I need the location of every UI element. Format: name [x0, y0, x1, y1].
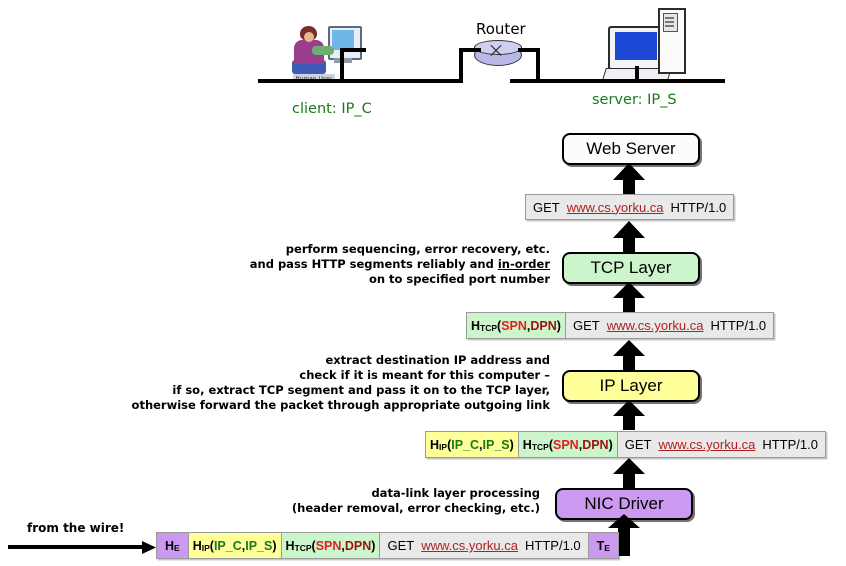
network-topology: Human User ⨉ Router client: IP_C server:… [0, 0, 846, 125]
router-label: Router [476, 20, 526, 38]
tcp-header-sub: TCP [532, 442, 549, 452]
packet-ethernet-frame[interactable]: HE HIP(IP_C, IP_S) HTCP(SPN, DPN) GET ww… [156, 532, 619, 559]
tcp-layer-label: TCP Layer [564, 254, 698, 282]
tcp-note-line-3: on to specified port number [180, 272, 550, 287]
router-icon: ⨉ [474, 40, 524, 66]
server-bay-slit-3 [665, 25, 674, 27]
client-person-face [304, 32, 314, 42]
tcp-layer-box[interactable]: TCP Layer [562, 252, 700, 284]
packet-ip[interactable]: HIP(IP_C, IP_S) HTCP(SPN, DPN) GET www.c… [425, 431, 826, 458]
tcp-spn: SPN [501, 319, 527, 333]
ip-layer-label: IP Layer [564, 372, 698, 400]
nic-note-line-1: data-link layer processing [250, 486, 540, 501]
wire-right-segment [510, 79, 725, 83]
from-the-wire-label: from the wire! [27, 521, 124, 535]
eth-trailer-t: T [597, 539, 605, 553]
arrow-up-to-ip-packet [612, 458, 646, 488]
tcp-dpn: DPN [530, 319, 556, 333]
client-screen [332, 30, 354, 50]
ip-header-h: H [193, 539, 202, 553]
ip-layer-annotation: extract destination IP address and check… [120, 353, 550, 413]
wire-router-left-drop [459, 48, 463, 82]
ip-note-line-3: if so, extract TCP segment and pass it o… [120, 383, 550, 398]
arrow-up-to-ip-layer [612, 400, 646, 430]
http-method: GET [573, 318, 600, 333]
ip-paren-close: ) [272, 539, 276, 553]
http-version: HTTP/1.0 [711, 318, 767, 333]
server-computer-icon [600, 8, 690, 78]
ip-header-sub: IP [202, 543, 210, 553]
wire-router-right-drop [536, 48, 540, 82]
client-computer-icon: Human User [288, 18, 348, 88]
client-person-arm [312, 46, 334, 55]
router-cross-glyph: ⨉ [490, 42, 502, 60]
wire-left-segment [258, 79, 463, 83]
http-version: HTTP/1.0 [762, 437, 818, 452]
arrow-from-the-wire [8, 539, 158, 557]
server-address-label: server: IP_S [592, 92, 677, 108]
web-server-label: Web Server [564, 135, 698, 163]
server-bay-slit-2 [665, 21, 674, 23]
http-method: GET [533, 200, 560, 215]
ip-header-segment: HIP(IP_C, IP_S) [189, 533, 282, 558]
tcp-note-line-2: and pass HTTP segments reliably and in-o… [180, 257, 550, 272]
ethernet-header-segment: HE [157, 533, 189, 558]
http-url: www.cs.yorku.ca [421, 538, 518, 553]
nic-note-line-2: (header removal, error checking, etc.) [250, 501, 540, 516]
http-url: www.cs.yorku.ca [607, 318, 704, 333]
nic-driver-annotation: data-link layer processing (header remov… [250, 486, 540, 516]
http-method: GET [387, 538, 414, 553]
tcp-spn: SPN [553, 438, 579, 452]
packet-tcp[interactable]: HTCP(SPN, DPN) GET www.cs.yorku.ca HTTP/… [466, 312, 774, 339]
http-segment: GET www.cs.yorku.ca HTTP/1.0 [380, 533, 588, 558]
wire-client-stub [340, 48, 366, 52]
tcp-paren-close: ) [371, 539, 375, 553]
ip-header-h: H [430, 438, 439, 452]
ip-header-segment: HIP(IP_C, IP_S) [426, 432, 519, 457]
ip-src: IP_C [451, 438, 479, 452]
wire-server-drop [635, 66, 639, 82]
ip-dst: IP_S [245, 539, 272, 553]
tcp-paren-close: ) [609, 438, 613, 452]
http-segment: GET www.cs.yorku.ca HTTP/1.0 [618, 432, 825, 457]
server-bay-slit-1 [665, 17, 674, 19]
tcp-header-h: H [523, 438, 532, 452]
ip-header-sub: IP [439, 442, 447, 452]
arrow-up-to-http-packet [612, 221, 646, 253]
ip-layer-box[interactable]: IP Layer [562, 370, 700, 402]
tcp-note-emphasis: in-order [498, 257, 550, 271]
eth-trailer-sub: E [604, 543, 610, 553]
ethernet-trailer-segment: TE [589, 533, 618, 558]
tcp-spn: SPN [316, 539, 342, 553]
tcp-layer-annotation: perform sequencing, error recovery, etc.… [180, 242, 550, 287]
client-address-label: client: IP_C [292, 101, 372, 117]
http-version: HTTP/1.0 [525, 538, 581, 553]
ip-note-line-1: extract destination IP address and [120, 353, 550, 368]
wire-client-drop [340, 48, 344, 82]
arrow-up-to-web-server [612, 163, 646, 195]
ip-note-line-4: otherwise forward the packet through app… [120, 398, 550, 413]
wire-router-left-stub [459, 48, 481, 52]
tcp-dpn: DPN [582, 438, 608, 452]
ip-src: IP_C [214, 539, 242, 553]
tcp-header-h: H [471, 319, 480, 333]
tcp-header-segment: HTCP(SPN, DPN) [519, 432, 618, 457]
web-server-box[interactable]: Web Server [562, 133, 700, 165]
server-screen [615, 32, 657, 60]
tcp-header-segment: HTCP(SPN, DPN) [467, 313, 566, 338]
tcp-header-sub: TCP [295, 543, 312, 553]
http-url: www.cs.yorku.ca [659, 437, 756, 452]
tcp-header-segment: HTCP(SPN, DPN) [282, 533, 381, 558]
arrow-up-to-tcp-layer [612, 282, 646, 312]
http-segment: GET www.cs.yorku.ca HTTP/1.0 [526, 195, 733, 219]
eth-header-sub: E [174, 543, 180, 553]
tcp-header-h: H [286, 539, 295, 553]
http-version: HTTP/1.0 [671, 200, 727, 215]
tcp-note-line-1: perform sequencing, error recovery, etc. [180, 242, 550, 257]
tcp-paren-close: ) [557, 319, 561, 333]
tcp-header-sub: TCP [480, 323, 497, 333]
ip-note-line-2: check if it is meant for this computer – [120, 368, 550, 383]
tcp-dpn: DPN [345, 539, 371, 553]
http-segment: GET www.cs.yorku.ca HTTP/1.0 [566, 313, 773, 338]
packet-http[interactable]: GET www.cs.yorku.ca HTTP/1.0 [525, 194, 734, 220]
http-url: www.cs.yorku.ca [567, 200, 664, 215]
arrow-up-to-tcp-packet [612, 340, 646, 370]
http-method: GET [625, 437, 652, 452]
ip-paren-close: ) [510, 438, 514, 452]
ip-dst: IP_S [483, 438, 510, 452]
eth-header-h: H [165, 539, 174, 553]
